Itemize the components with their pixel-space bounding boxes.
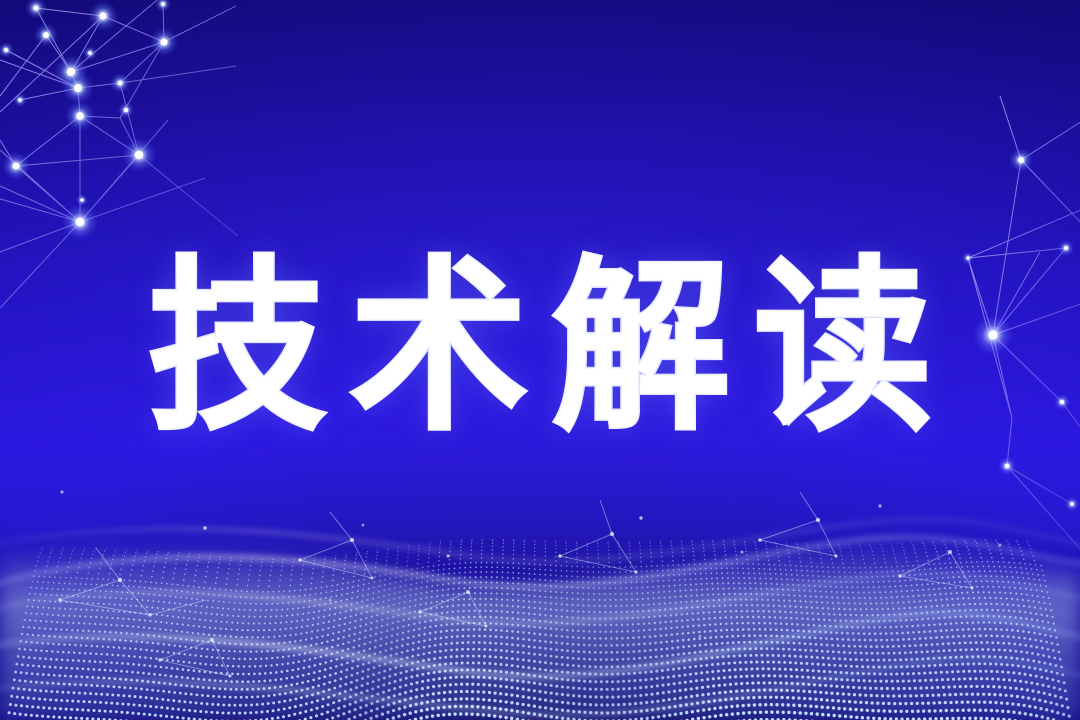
particle-wave-field [0,0,1080,720]
poster-canvas: 技术解读 [0,0,1080,720]
